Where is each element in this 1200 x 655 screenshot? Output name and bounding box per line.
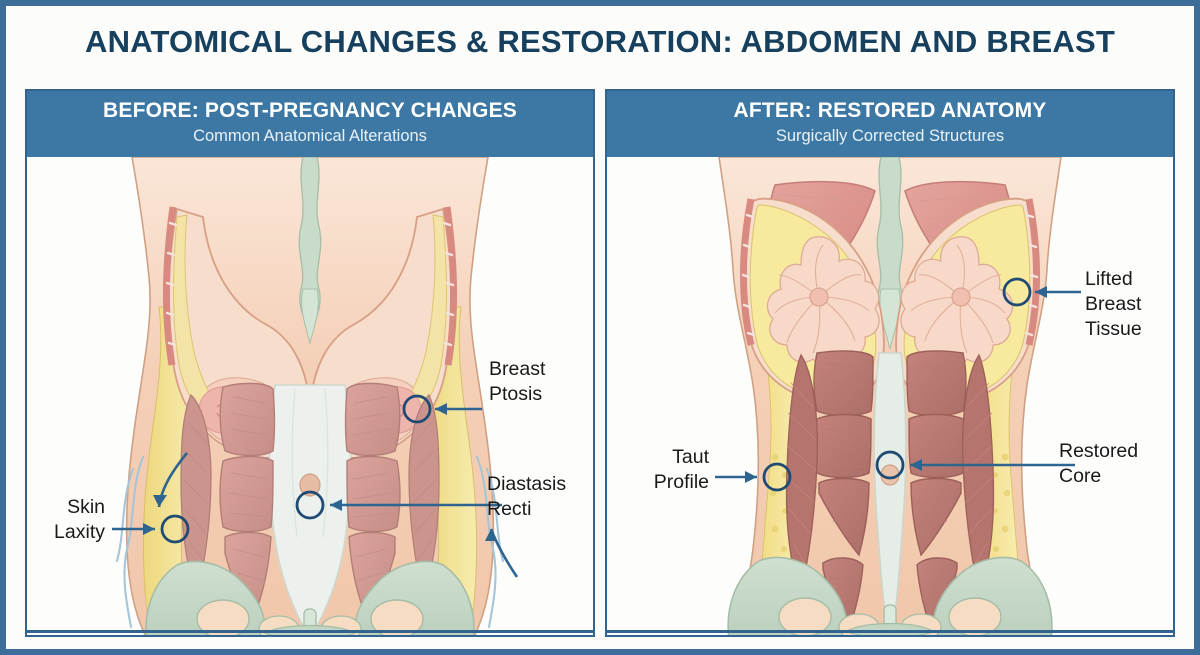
anno-breast-ptosis: Breast Ptosis <box>489 357 589 407</box>
anno-lifted-breast-tissue: Lifted Breast Tissue <box>1085 267 1173 342</box>
panel-before: BEFORE: POST-PREGNANCY CHANGES Common An… <box>25 89 595 637</box>
anatomy-illustration-after <box>607 157 1173 637</box>
panel-after-bottom-rule <box>607 630 1173 633</box>
panel-after-title: AFTER: RESTORED ANATOMY <box>607 98 1173 124</box>
panel-after-body: Lifted Breast Tissue Restored Core Taut … <box>607 157 1173 637</box>
panel-before-bottom-rule <box>27 630 593 633</box>
panel-before-body: Breast Ptosis Diastasis Recti Skin Laxit… <box>27 157 593 637</box>
page-title: ANATOMICAL CHANGES & RESTORATION: ABDOME… <box>6 24 1194 60</box>
sternum-before <box>299 157 320 343</box>
infographic-page: { "header": { "title": "ANATOMICAL CHANG… <box>0 0 1200 655</box>
panel-before-header: BEFORE: POST-PREGNANCY CHANGES Common An… <box>27 91 593 157</box>
anno-skin-laxity: Skin Laxity <box>27 495 105 545</box>
infographic-canvas: ANATOMICAL CHANGES & RESTORATION: ABDOME… <box>6 6 1194 649</box>
panel-before-title: BEFORE: POST-PREGNANCY CHANGES <box>27 98 593 124</box>
anno-restored-core: Restored Core <box>1059 439 1173 489</box>
anno-diastasis-recti: Diastasis Recti <box>487 472 592 522</box>
anno-taut-profile: Taut Profile <box>623 445 709 495</box>
panel-before-subtitle: Common Anatomical Alterations <box>27 124 593 148</box>
panel-after: AFTER: RESTORED ANATOMY Surgically Corre… <box>605 89 1175 637</box>
panel-after-header: AFTER: RESTORED ANATOMY Surgically Corre… <box>607 91 1173 157</box>
panel-after-subtitle: Surgically Corrected Structures <box>607 124 1173 148</box>
